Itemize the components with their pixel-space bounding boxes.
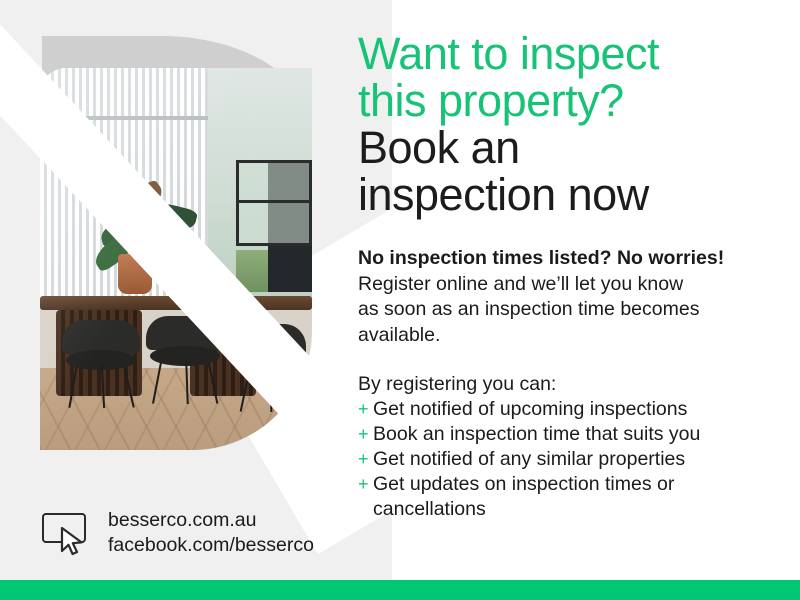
facebook-link[interactable]: facebook.com/besserco	[108, 533, 314, 558]
bottom-accent-bar	[0, 580, 800, 600]
headline-line-3: Book an	[358, 124, 778, 171]
list-item: + Get updates on inspection times or	[358, 472, 778, 497]
body-lead-line: No inspection times listed? No worries!	[358, 246, 778, 272]
body-line-1: Register online and we’ll let you know	[358, 272, 778, 298]
plus-icon: +	[358, 397, 373, 422]
content-column: Want to inspect this property? Book an i…	[358, 30, 778, 522]
footer: besserco.com.au facebook.com/besserco	[42, 508, 314, 558]
headline-line-4: inspection now	[358, 171, 778, 218]
cursor-arrow-icon	[60, 527, 90, 557]
website-link[interactable]: besserco.com.au	[108, 508, 314, 533]
benefits-list: By registering you can: + Get notified o…	[358, 372, 778, 522]
page-title: Want to inspect this property? Book an i…	[358, 30, 778, 218]
list-item-label: Get notified of upcoming inspections	[373, 397, 687, 422]
list-item: + Get notified of upcoming inspections	[358, 397, 778, 422]
headline-line-2: this property?	[358, 77, 778, 124]
plus-icon: +	[358, 447, 373, 472]
list-item: + Book an inspection time that suits you	[358, 422, 778, 447]
list-item-continuation: cancellations	[358, 497, 778, 522]
list-item-label: Get notified of any similar properties	[373, 447, 685, 472]
footer-links: besserco.com.au facebook.com/besserco	[108, 508, 314, 558]
cursor-click-icon	[42, 509, 94, 557]
benefits-list-intro: By registering you can:	[358, 372, 778, 397]
headline-line-1: Want to inspect	[358, 30, 778, 77]
body-copy: No inspection times listed? No worries! …	[358, 246, 778, 348]
plus-icon: +	[358, 422, 373, 447]
list-item: + Get notified of any similar properties	[358, 447, 778, 472]
list-item-label: Get updates on inspection times or	[373, 472, 674, 497]
body-line-2: as soon as an inspection time becomes	[358, 297, 778, 323]
body-line-3: available.	[358, 323, 778, 349]
plus-icon: +	[358, 472, 373, 497]
list-item-label: Book an inspection time that suits you	[373, 422, 700, 447]
